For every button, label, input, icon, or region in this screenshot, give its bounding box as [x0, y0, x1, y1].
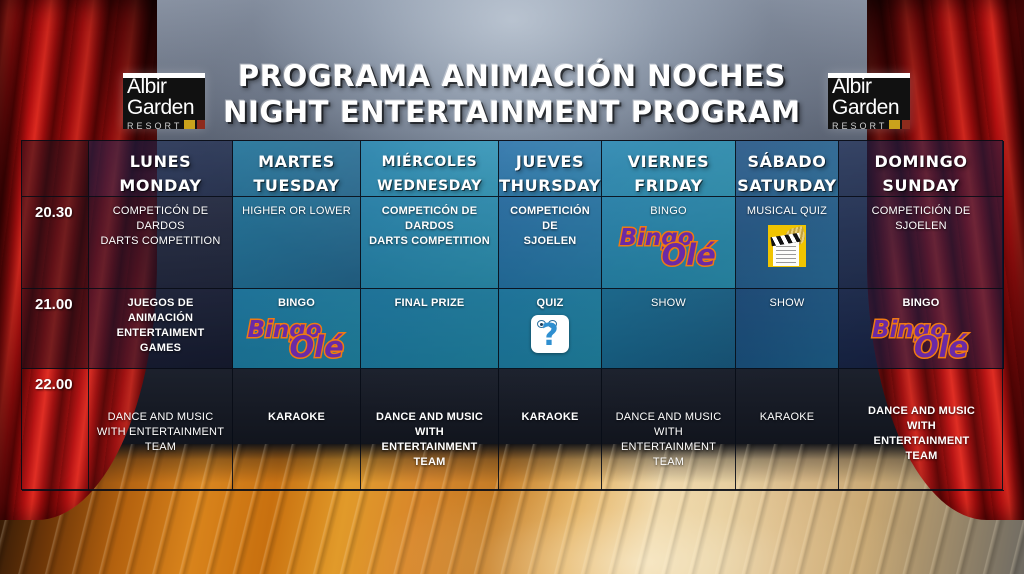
- time-slot-cell: 21.00: [22, 289, 89, 369]
- day-header-thursday: JUEVESTHURSDAY: [499, 141, 602, 197]
- activity-text: COMPETICIÓN DESJOELEN: [872, 204, 971, 234]
- question-mark-icon: ?: [531, 315, 569, 353]
- bingo-ole-logo: BingoOlé: [870, 317, 972, 359]
- logo-swatch-red: [902, 120, 910, 129]
- logo-name-line1: Albir: [832, 76, 910, 97]
- time-label: 20.30: [27, 204, 73, 221]
- activity-text: SHOW: [651, 296, 686, 311]
- day-name-en: FRIDAY: [634, 176, 703, 196]
- activity-cell[interactable]: MUSICAL QUIZ: [736, 197, 839, 289]
- activity-text: COMPETICÓN DEDARDOSDARTS COMPETITION: [101, 204, 221, 249]
- time-label: 22.00: [27, 376, 73, 393]
- day-name-es: JUEVES: [516, 152, 584, 172]
- logo-name-line2: Garden: [832, 97, 910, 118]
- day-header-saturday: SÁBADOSATURDAY: [736, 141, 839, 197]
- activity-text: BINGO: [278, 296, 315, 311]
- day-name-es: SÁBADO: [748, 152, 827, 172]
- activity-text: COMPETICÓN DEDARDOSDARTS COMPETITION: [369, 204, 490, 249]
- activity-text: DANCE AND MUSICWITHENTERTAINMENTTEAM: [868, 404, 975, 464]
- bingo-logo-word2: Olé: [290, 330, 344, 364]
- activity-text: DANCE AND MUSICWITH ENTERTAINMENTTEAM: [97, 410, 224, 455]
- logo-resort-word: RESORT: [127, 121, 182, 130]
- table-corner-cell: [22, 141, 89, 197]
- activity-cell[interactable]: KARAOKE: [233, 369, 361, 491]
- bingo-logo-word2: Olé: [662, 238, 716, 272]
- day-name-es: MIÉRCOLES: [382, 152, 478, 172]
- day-name-en: TUESDAY: [253, 176, 339, 196]
- activity-text: JUEGOS DE ANIMACIÓNENTERTAIMENTGAMES: [94, 296, 227, 356]
- bingo-ole-logo: BingoOlé: [618, 225, 720, 267]
- activity-cell[interactable]: KARAOKE: [499, 369, 602, 491]
- day-name-en: SUNDAY: [882, 176, 959, 196]
- activity-cell[interactable]: QUIZ?: [499, 289, 602, 369]
- activity-cell[interactable]: HIGHER OR LOWER: [233, 197, 361, 289]
- activity-cell[interactable]: BINGOBingoOlé: [839, 289, 1004, 369]
- logo-name-line2: Garden: [127, 97, 205, 118]
- day-name-en: WEDNESDAY: [377, 176, 482, 196]
- day-header-sunday: DOMINGOSUNDAY: [839, 141, 1004, 197]
- activity-cell[interactable]: KARAOKE: [736, 369, 839, 491]
- day-name-en: THURSDAY: [499, 176, 601, 196]
- schedule-table: LUNESMONDAYMARTESTUESDAYMIÉRCOLESWEDNESD…: [21, 140, 1003, 490]
- day-name-en: MONDAY: [119, 176, 201, 196]
- logo-resort-word: RESORT: [832, 121, 887, 130]
- time-slot-cell: 22.00: [22, 369, 89, 491]
- activity-cell[interactable]: COMPETICÓN DEDARDOSDARTS COMPETITION: [89, 197, 233, 289]
- bingo-logo-word2: Olé: [914, 330, 968, 364]
- day-header-friday: VIERNESFRIDAY: [602, 141, 736, 197]
- activity-cell[interactable]: DANCE AND MUSICWITH ENTERTAINMENTTEAM: [602, 369, 736, 491]
- albir-garden-resort-logo-right: Albir Garden RESORT: [828, 73, 910, 129]
- activity-text: KARAOKE: [521, 410, 578, 425]
- activity-text: SHOW: [769, 296, 804, 311]
- activity-cell[interactable]: COMPETICIÓN DESJOELEN: [839, 197, 1004, 289]
- albir-garden-resort-logo-left: Albir Garden RESORT: [123, 73, 205, 129]
- logo-resort-row: RESORT: [832, 120, 910, 129]
- bingo-ole-logo: BingoOlé: [246, 317, 348, 359]
- activity-cell[interactable]: SHOW: [736, 289, 839, 369]
- activity-cell[interactable]: DANCE AND MUSICWITH ENTERTAINMENTTEAM: [89, 369, 233, 491]
- activity-text: BINGO: [902, 296, 939, 311]
- activity-cell[interactable]: BINGOBingoOlé: [233, 289, 361, 369]
- day-header-wednesday: MIÉRCOLESWEDNESDAY: [361, 141, 499, 197]
- day-name-en: SATURDAY: [737, 176, 836, 196]
- day-name-es: LUNES: [130, 152, 191, 172]
- logo-resort-row: RESORT: [127, 120, 205, 129]
- activity-text: FINAL PRIZE: [395, 296, 465, 311]
- activity-text: COMPETICIÓN DESJOELEN: [504, 204, 596, 249]
- activity-cell[interactable]: SHOW: [602, 289, 736, 369]
- activity-cell[interactable]: DANCE AND MUSICWITHENTERTAINMENTTEAM: [839, 369, 1004, 491]
- day-name-es: DOMINGO: [874, 152, 967, 172]
- time-slot-cell: 20.30: [22, 197, 89, 289]
- day-header-monday: LUNESMONDAY: [89, 141, 233, 197]
- night-entertainment-program-poster: Albir Garden RESORT Albir Garden RESORT …: [0, 0, 1024, 574]
- activity-cell[interactable]: FINAL PRIZE: [361, 289, 499, 369]
- clapperboard-icon: [768, 225, 806, 267]
- activity-text: DANCE AND MUSICWITH ENTERTAINMENTTEAM: [366, 410, 493, 470]
- logo-swatch-orange: [889, 120, 900, 129]
- activity-cell[interactable]: JUEGOS DE ANIMACIÓNENTERTAIMENTGAMES: [89, 289, 233, 369]
- activity-text: HIGHER OR LOWER: [242, 204, 351, 219]
- activity-text: KARAOKE: [760, 410, 815, 425]
- logo-name-line1: Albir: [127, 76, 205, 97]
- activity-cell[interactable]: DANCE AND MUSICWITH ENTERTAINMENTTEAM: [361, 369, 499, 491]
- activity-text: BINGO: [650, 204, 686, 219]
- logo-swatch-orange: [184, 120, 195, 129]
- activity-text: QUIZ: [536, 296, 563, 311]
- activity-cell[interactable]: COMPETICIÓN DESJOELEN: [499, 197, 602, 289]
- activity-text: MUSICAL QUIZ: [747, 204, 827, 219]
- day-name-es: MARTES: [258, 152, 335, 172]
- activity-cell[interactable]: COMPETICÓN DEDARDOSDARTS COMPETITION: [361, 197, 499, 289]
- time-label: 21.00: [27, 296, 73, 313]
- day-header-tuesday: MARTESTUESDAY: [233, 141, 361, 197]
- activity-text: DANCE AND MUSICWITH ENTERTAINMENTTEAM: [607, 410, 730, 470]
- day-name-es: VIERNES: [628, 152, 710, 172]
- activity-cell[interactable]: BINGOBingoOlé: [602, 197, 736, 289]
- logo-swatch-red: [197, 120, 205, 129]
- activity-text: KARAOKE: [268, 410, 325, 425]
